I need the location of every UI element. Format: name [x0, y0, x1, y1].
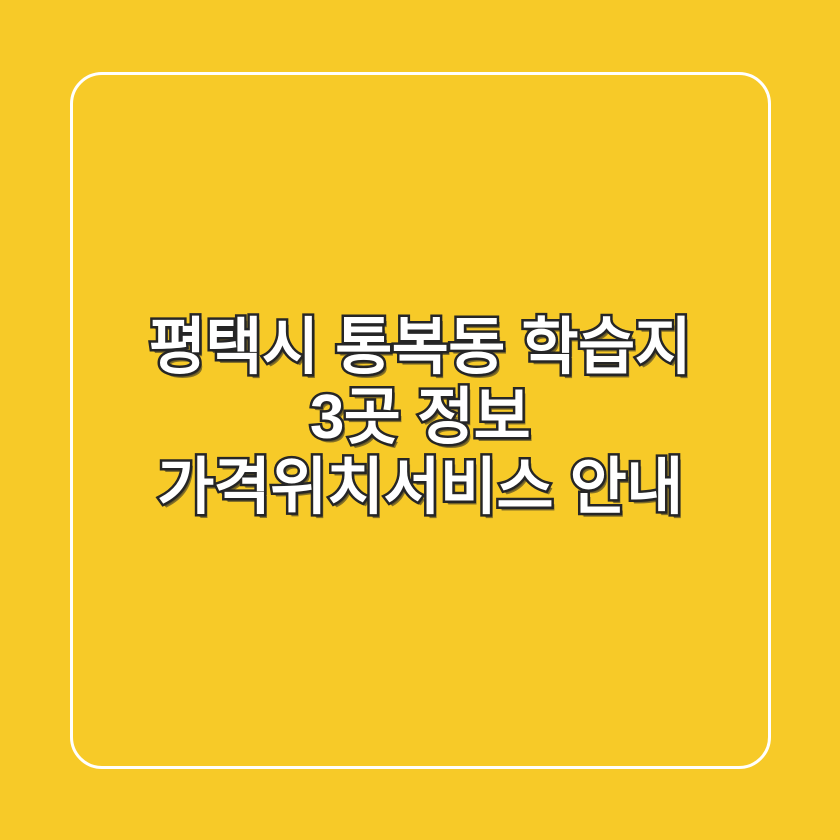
headline-line-2: 3곳 정보 — [70, 383, 770, 453]
headline-line-3: 가격위치서비스 안내 — [70, 453, 770, 523]
headline-line-1: 평택시 통복동 학습지 — [70, 313, 770, 383]
poster-headline: 평택시 통복동 학습지 3곳 정보 가격위치서비스 안내 — [70, 313, 770, 523]
poster-canvas: 평택시 통복동 학습지 3곳 정보 가격위치서비스 안내 — [0, 0, 840, 840]
